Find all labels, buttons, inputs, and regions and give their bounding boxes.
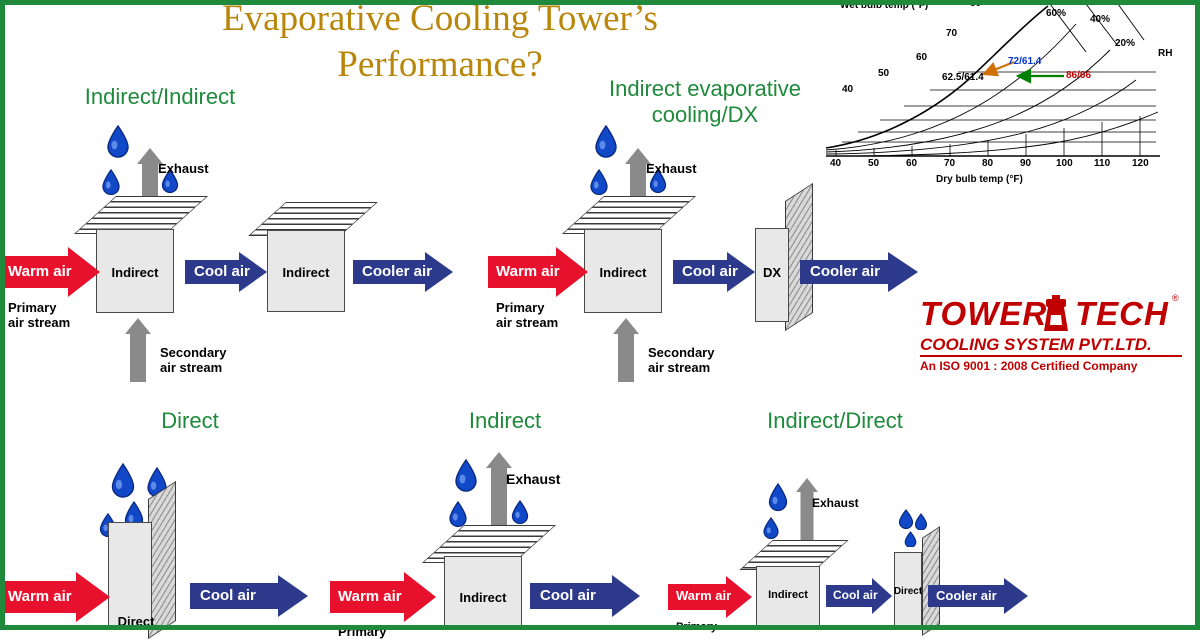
section-title-direct: Direct xyxy=(115,408,265,434)
warm-air-label-2: Warm air xyxy=(496,263,560,280)
water-droplet-icon xyxy=(762,516,780,539)
secondary-line1: Secondary xyxy=(648,345,714,360)
secondary-air-arrow-2 xyxy=(606,318,646,382)
exhaust-label-5: Exhaust xyxy=(812,496,859,511)
wet-bulb-tick-70: 70 xyxy=(946,28,957,39)
cooler-air-label-1: Cooler air xyxy=(362,263,432,280)
wet-bulb-tick-80: 80 xyxy=(970,0,981,9)
indirect-block-1-label: Indirect xyxy=(96,265,174,280)
logo-name-left: TOWER xyxy=(920,295,1047,333)
rh-tick-40: 40% xyxy=(1090,14,1110,25)
primary-label-4: Primary xyxy=(338,624,386,639)
logo-name-right: TECH xyxy=(1075,295,1169,333)
indirect-block-4-label: Indirect xyxy=(444,590,522,605)
logo-divider xyxy=(920,355,1182,357)
cool-air-label-1: Cool air xyxy=(194,263,250,280)
dry-bulb-tick-120: 120 xyxy=(1132,158,1149,169)
annotation-supply-air: 72/61.4 xyxy=(1008,56,1041,67)
cooler-air-label-2: Cooler air xyxy=(810,263,880,280)
secondary-air-stream-label-1: Secondary air stream xyxy=(160,345,226,375)
primary-air-stream-label-1: Primary air stream xyxy=(8,300,70,330)
primary-line2: air stream xyxy=(8,315,70,330)
water-droplet-icon xyxy=(108,462,138,498)
warm-air-label-3: Warm air xyxy=(8,588,72,605)
indirect-block-5-label: Indirect xyxy=(756,589,820,601)
annotation-outdoor-air: 86/66 xyxy=(1066,70,1091,81)
direct-block-1-label: Direct xyxy=(104,614,168,629)
wet-bulb-tick-40: 40 xyxy=(842,84,853,95)
water-droplet-icon xyxy=(452,458,480,492)
warm-air-label-1: Warm air xyxy=(8,263,72,280)
wet-bulb-tick-50: 50 xyxy=(878,68,889,79)
section-title-indirect-indirect: Indirect/Indirect xyxy=(40,84,280,110)
dry-bulb-tick-60: 60 xyxy=(906,158,917,169)
section-title-indirect-dx: Indirect evaporative cooling/DX xyxy=(560,76,850,128)
page-title: Evaporative Cooling Tower’s Performance? xyxy=(120,0,760,88)
registered-mark: ® xyxy=(1172,293,1179,303)
secondary-line1: Secondary xyxy=(160,345,226,360)
water-droplet-icon xyxy=(104,124,132,158)
dry-bulb-tick-40: 40 xyxy=(830,158,841,169)
primary-air-stream-label-2: Primary air stream xyxy=(496,300,558,330)
logo-tagline: COOLING SYSTEM PVT.LTD. xyxy=(920,335,1152,355)
rh-label: RH xyxy=(1158,48,1172,59)
exhaust-label-1: Exhaust xyxy=(158,161,209,176)
dry-bulb-tick-100: 100 xyxy=(1056,158,1073,169)
direct-block-2-label: Direct xyxy=(888,586,928,597)
dry-bulb-axis-label: Dry bulb temp (°F) xyxy=(936,174,1023,185)
secondary-air-arrow-1 xyxy=(118,318,158,382)
water-droplet-icon xyxy=(447,500,469,527)
annotation-exit-air: 62.5/61.4 xyxy=(942,72,984,83)
section-title-indirect-direct: Indirect/Direct xyxy=(740,408,930,434)
dry-bulb-tick-50: 50 xyxy=(868,158,879,169)
logo-certification: An ISO 9001 : 2008 Certified Company xyxy=(920,359,1137,373)
primary-label-5: Primary xyxy=(676,620,717,635)
wet-bulb-tick-60: 60 xyxy=(916,52,927,63)
cool-air-label-4: Cool air xyxy=(540,587,596,604)
indirect-block-2-label: Indirect xyxy=(267,265,345,280)
wet-bulb-axis-label: Wet bulb temp (°F) xyxy=(840,0,928,11)
psychrometric-chart: Wet bulb temp (°F) 80 70 60 50 40 80% 60… xyxy=(818,0,1190,190)
indirect-block-3-label: Indirect xyxy=(584,265,662,280)
primary-line1: Primary xyxy=(496,300,544,315)
water-droplet-icon xyxy=(766,482,790,512)
dx-block-label: DX xyxy=(753,265,791,280)
rh-tick-20: 20% xyxy=(1115,38,1135,49)
water-droplet-icon xyxy=(914,512,928,530)
cooling-tower-icon xyxy=(1038,295,1074,333)
water-droplet-icon xyxy=(898,508,914,529)
dry-bulb-tick-70: 70 xyxy=(944,158,955,169)
dry-bulb-tick-80: 80 xyxy=(982,158,993,169)
warm-air-label-4: Warm air xyxy=(338,588,402,605)
secondary-line2: air stream xyxy=(160,360,222,375)
water-droplet-icon xyxy=(904,530,917,547)
rh-tick-60: 60% xyxy=(1046,8,1066,19)
diagram-canvas: Evaporative Cooling Tower’s Performance?… xyxy=(0,0,1200,630)
dry-bulb-tick-90: 90 xyxy=(1020,158,1031,169)
cool-air-label-3: Cool air xyxy=(200,587,256,604)
warm-air-label-5: Warm air xyxy=(676,588,731,603)
water-droplet-icon xyxy=(100,168,122,195)
secondary-air-stream-label-2: Secondary air stream xyxy=(648,345,714,375)
water-droplet-icon xyxy=(588,168,610,195)
cool-air-label-5: Cool air xyxy=(833,588,878,602)
dry-bulb-tick-110: 110 xyxy=(1094,158,1110,169)
primary-line1: Primary xyxy=(8,300,56,315)
section-title-indirect: Indirect xyxy=(425,408,585,434)
water-droplet-icon xyxy=(592,124,620,158)
primary-line2: air stream xyxy=(496,315,558,330)
rh-tick-80: 80% xyxy=(994,0,1014,7)
exhaust-label-4: Exhaust xyxy=(506,472,560,487)
cooler-air-label-5: Cooler air xyxy=(936,588,997,603)
secondary-line2: air stream xyxy=(648,360,710,375)
exhaust-label-2: Exhaust xyxy=(646,161,697,176)
company-logo: TOWER TECH ® COOLING SYSTEM PVT.LTD. An … xyxy=(920,295,1182,395)
cool-air-label-2: Cool air xyxy=(682,263,738,280)
